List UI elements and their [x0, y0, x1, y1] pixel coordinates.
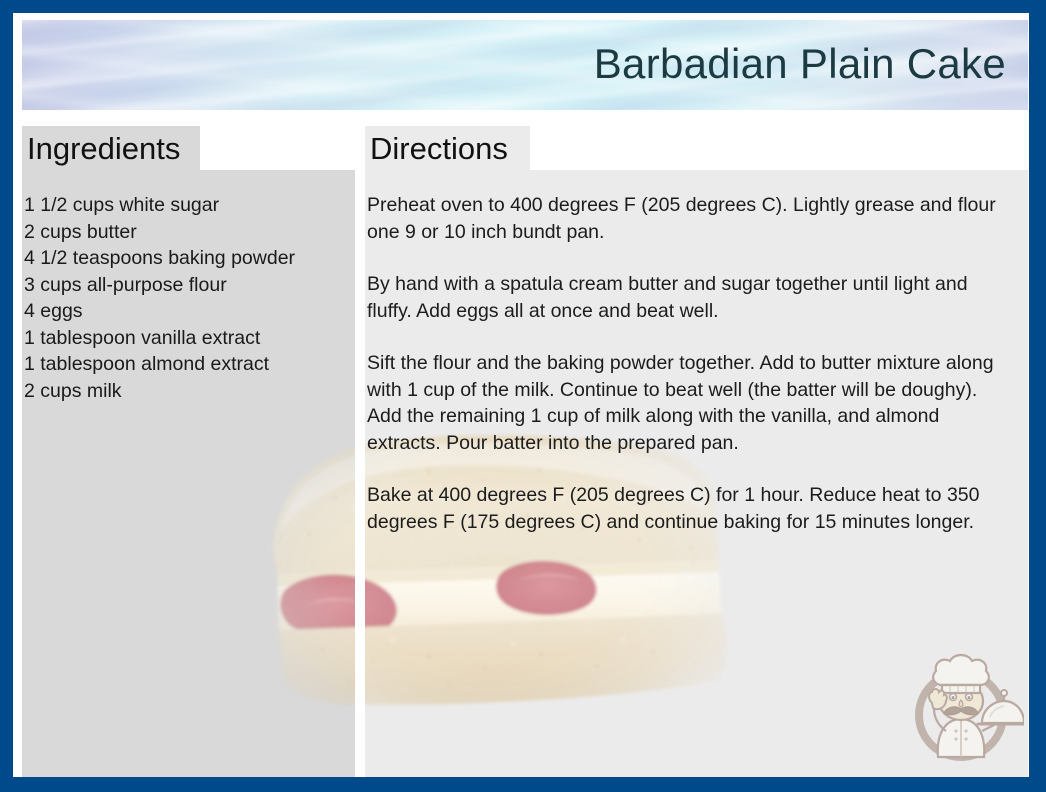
title-banner: Barbadian Plain Cake [22, 20, 1028, 110]
panel-gutter [355, 170, 365, 777]
ingredient-item: 3 cups all-purpose flour [24, 272, 354, 299]
direction-step: Sift the flour and the baking powder tog… [367, 350, 1015, 456]
ingredient-item: 2 cups milk [24, 378, 354, 405]
direction-step: By hand with a spatula cream butter and … [367, 271, 1015, 324]
page-title: Barbadian Plain Cake [594, 40, 1006, 88]
border-right [1029, 0, 1046, 792]
ingredients-list: 1 1/2 cups white sugar 2 cups butter 4 1… [24, 192, 354, 404]
ingredients-heading-label: Ingredients [27, 133, 180, 164]
ingredient-item: 1 tablespoon vanilla extract [24, 325, 354, 352]
direction-step: Preheat oven to 400 degrees F (205 degre… [367, 192, 1015, 245]
ingredient-item: 4 eggs [24, 298, 354, 325]
border-top [0, 0, 1046, 13]
directions-heading-tab: Directions [365, 126, 530, 170]
directions-heading-label: Directions [370, 133, 508, 164]
ingredient-item: 1 tablespoon almond extract [24, 351, 354, 378]
recipe-card: Barbadian Plain Cake Ingredients Directi… [0, 0, 1046, 792]
directions-text: Preheat oven to 400 degrees F (205 degre… [367, 192, 1015, 535]
ingredient-item: 1 1/2 cups white sugar [24, 192, 354, 219]
ingredient-item: 4 1/2 teaspoons baking powder [24, 245, 354, 272]
direction-step: Bake at 400 degrees F (205 degrees C) fo… [367, 482, 1015, 535]
ingredients-heading-tab: Ingredients [22, 126, 200, 170]
ingredient-item: 2 cups butter [24, 219, 354, 246]
chef-logo-icon [898, 645, 1024, 771]
border-left [0, 0, 13, 792]
border-bottom [0, 777, 1046, 792]
